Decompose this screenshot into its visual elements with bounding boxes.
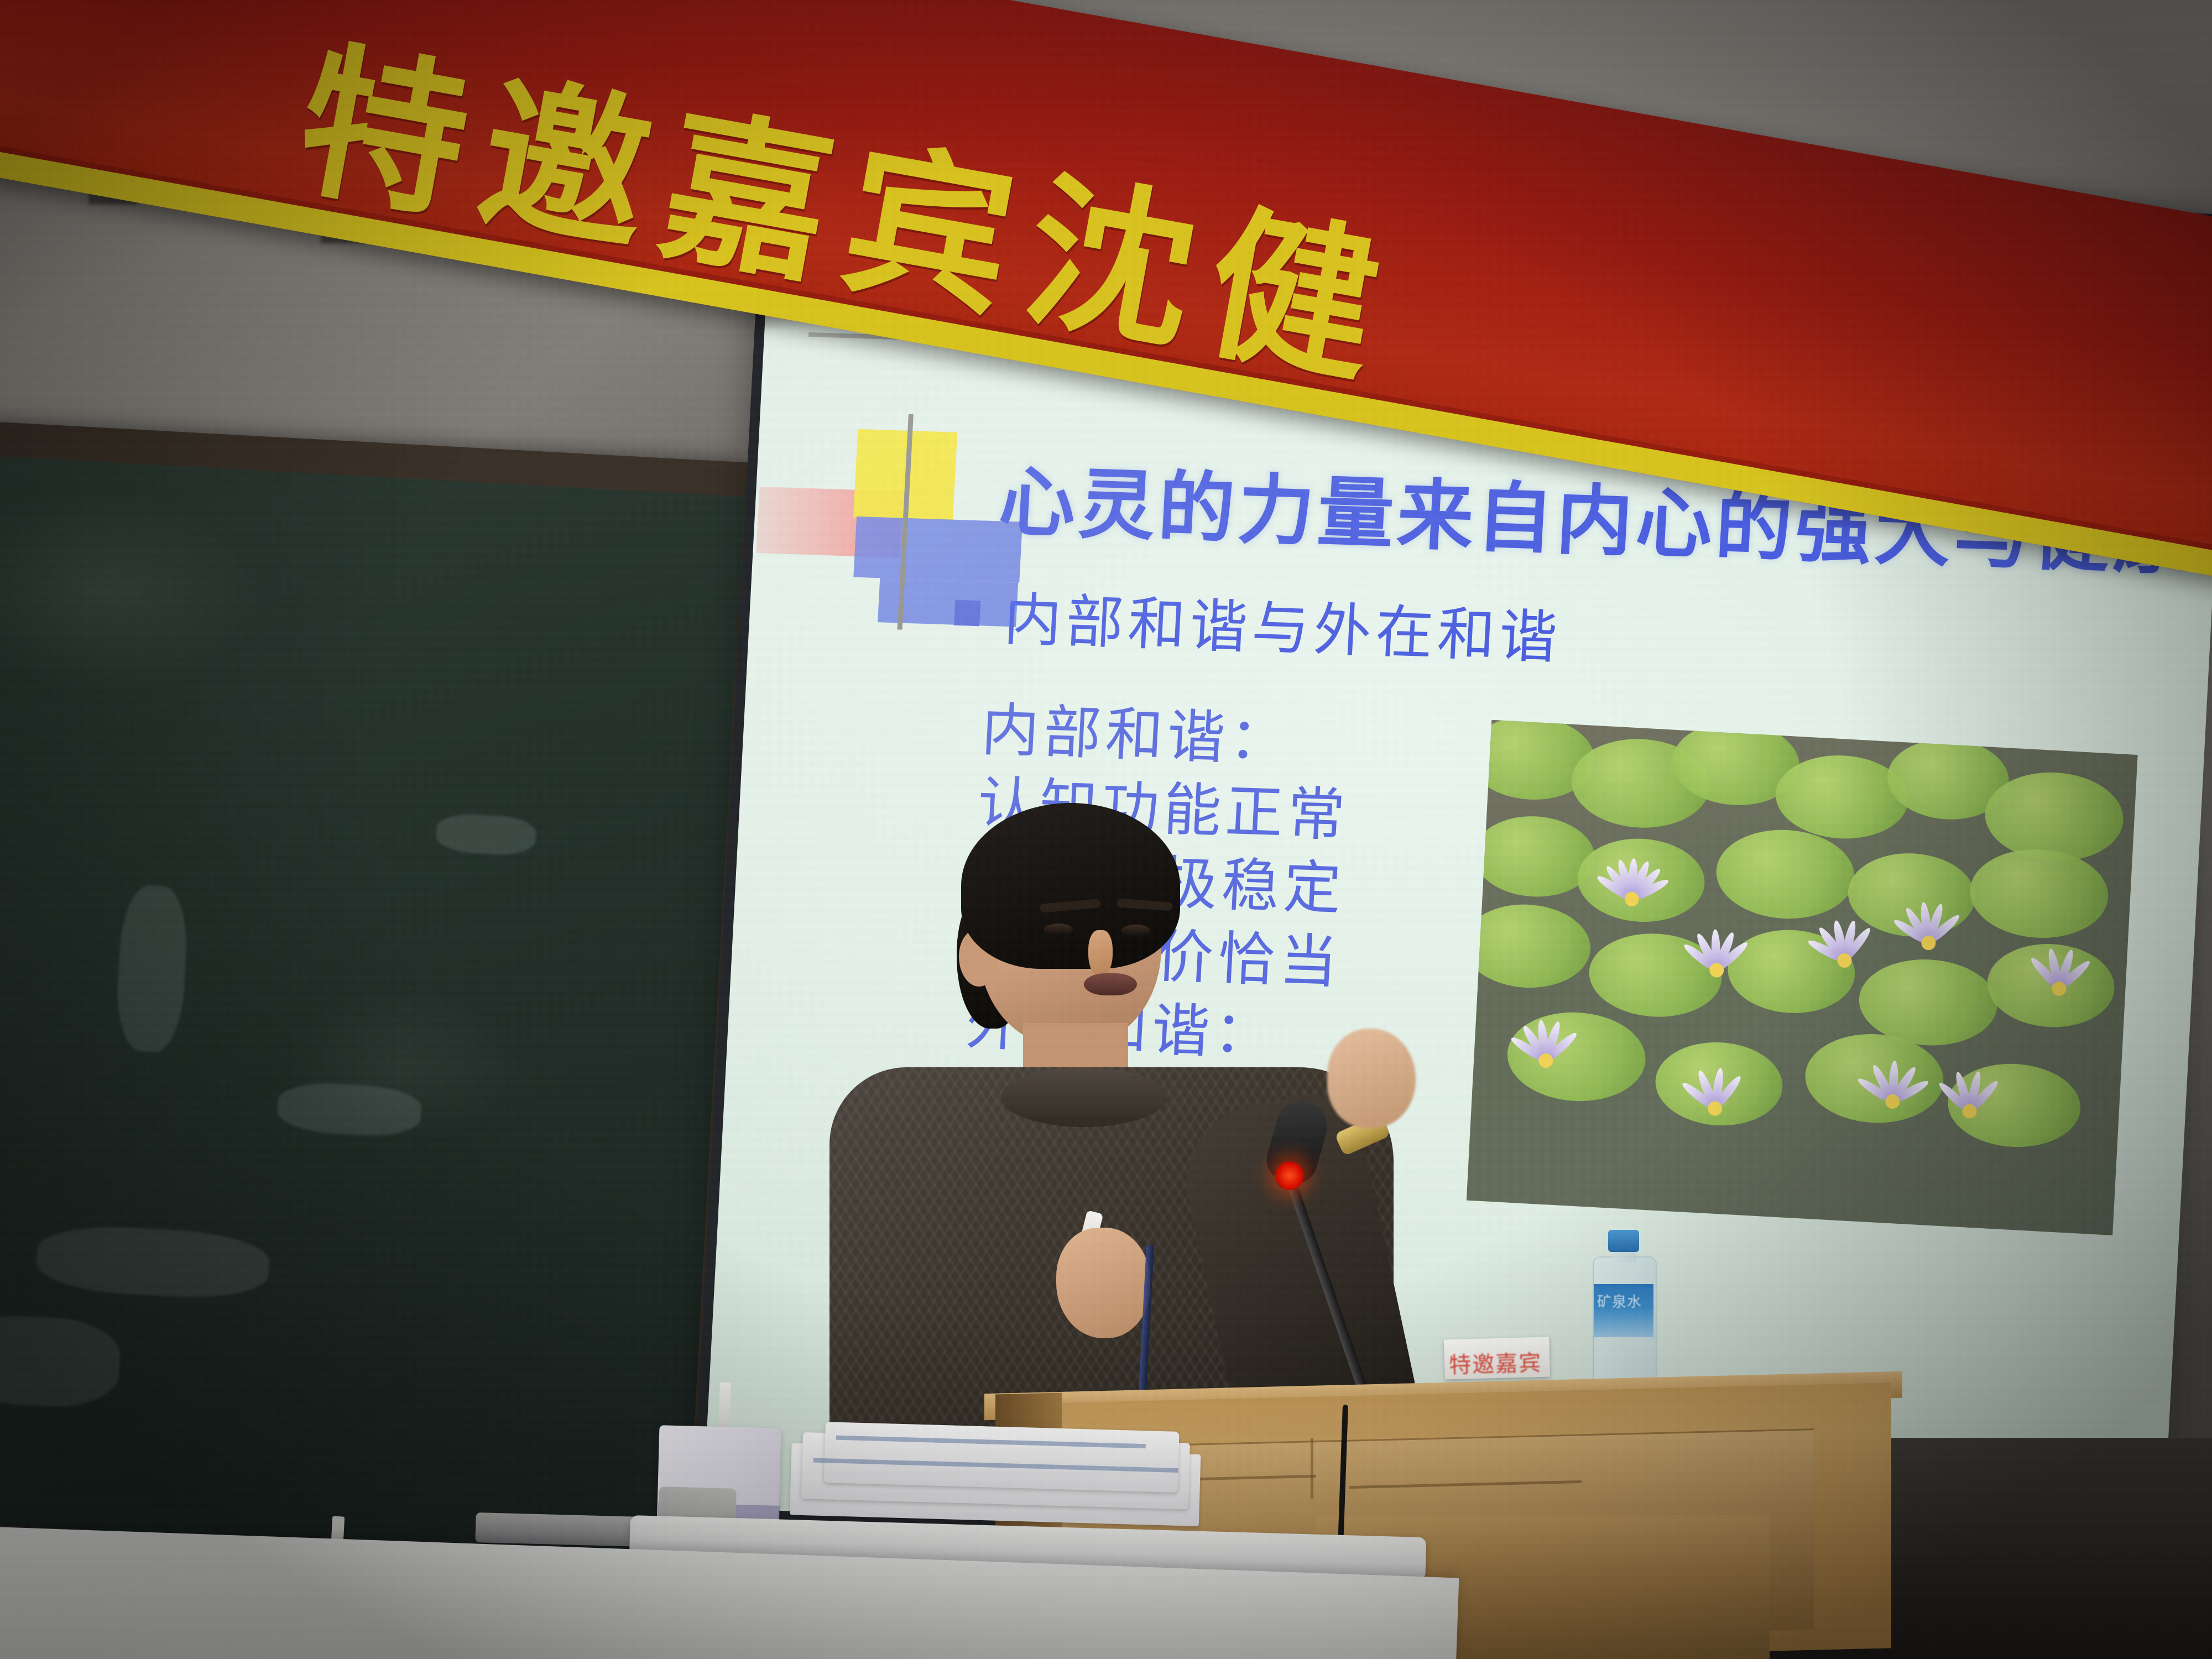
- raised-hand: [1327, 1029, 1416, 1128]
- podium-divider: [1311, 1438, 1313, 1499]
- sweater-collar: [1001, 1067, 1167, 1127]
- bottle-cap: [1608, 1230, 1639, 1252]
- bottle-label-text: 矿泉水: [1597, 1291, 1650, 1311]
- eye-right: [1121, 925, 1150, 937]
- mic-power-led: [1275, 1161, 1304, 1190]
- water-bottle: 矿泉水: [1593, 1233, 1655, 1388]
- slide-body-line: 内部和谐：: [980, 693, 1355, 779]
- nameplate-card: 特邀嘉宾: [1444, 1337, 1550, 1380]
- hair: [961, 803, 1180, 969]
- slide-bullet-row: 内部和谐与外在和谐: [952, 571, 1564, 674]
- mouth: [1084, 973, 1137, 995]
- blackboard: [0, 455, 745, 1562]
- slide-bullet-text: 内部和谐与外在和谐: [1002, 572, 1564, 674]
- slide-lily-photo: [1467, 720, 2138, 1235]
- nose: [1088, 930, 1113, 978]
- bullet-square-icon: [954, 599, 980, 625]
- eye-left: [1044, 924, 1073, 936]
- photo-scene: 心灵的力量来自内心的强大与健康 内部和谐与外在和谐 内部和谐： 认知功能正常 情…: [0, 0, 2212, 1659]
- lower-hand: [1056, 1228, 1150, 1338]
- paper-stack: [790, 1426, 1212, 1532]
- blackboard-frame: [0, 420, 751, 1600]
- nameplate-text: 特邀嘉宾: [1448, 1345, 1545, 1380]
